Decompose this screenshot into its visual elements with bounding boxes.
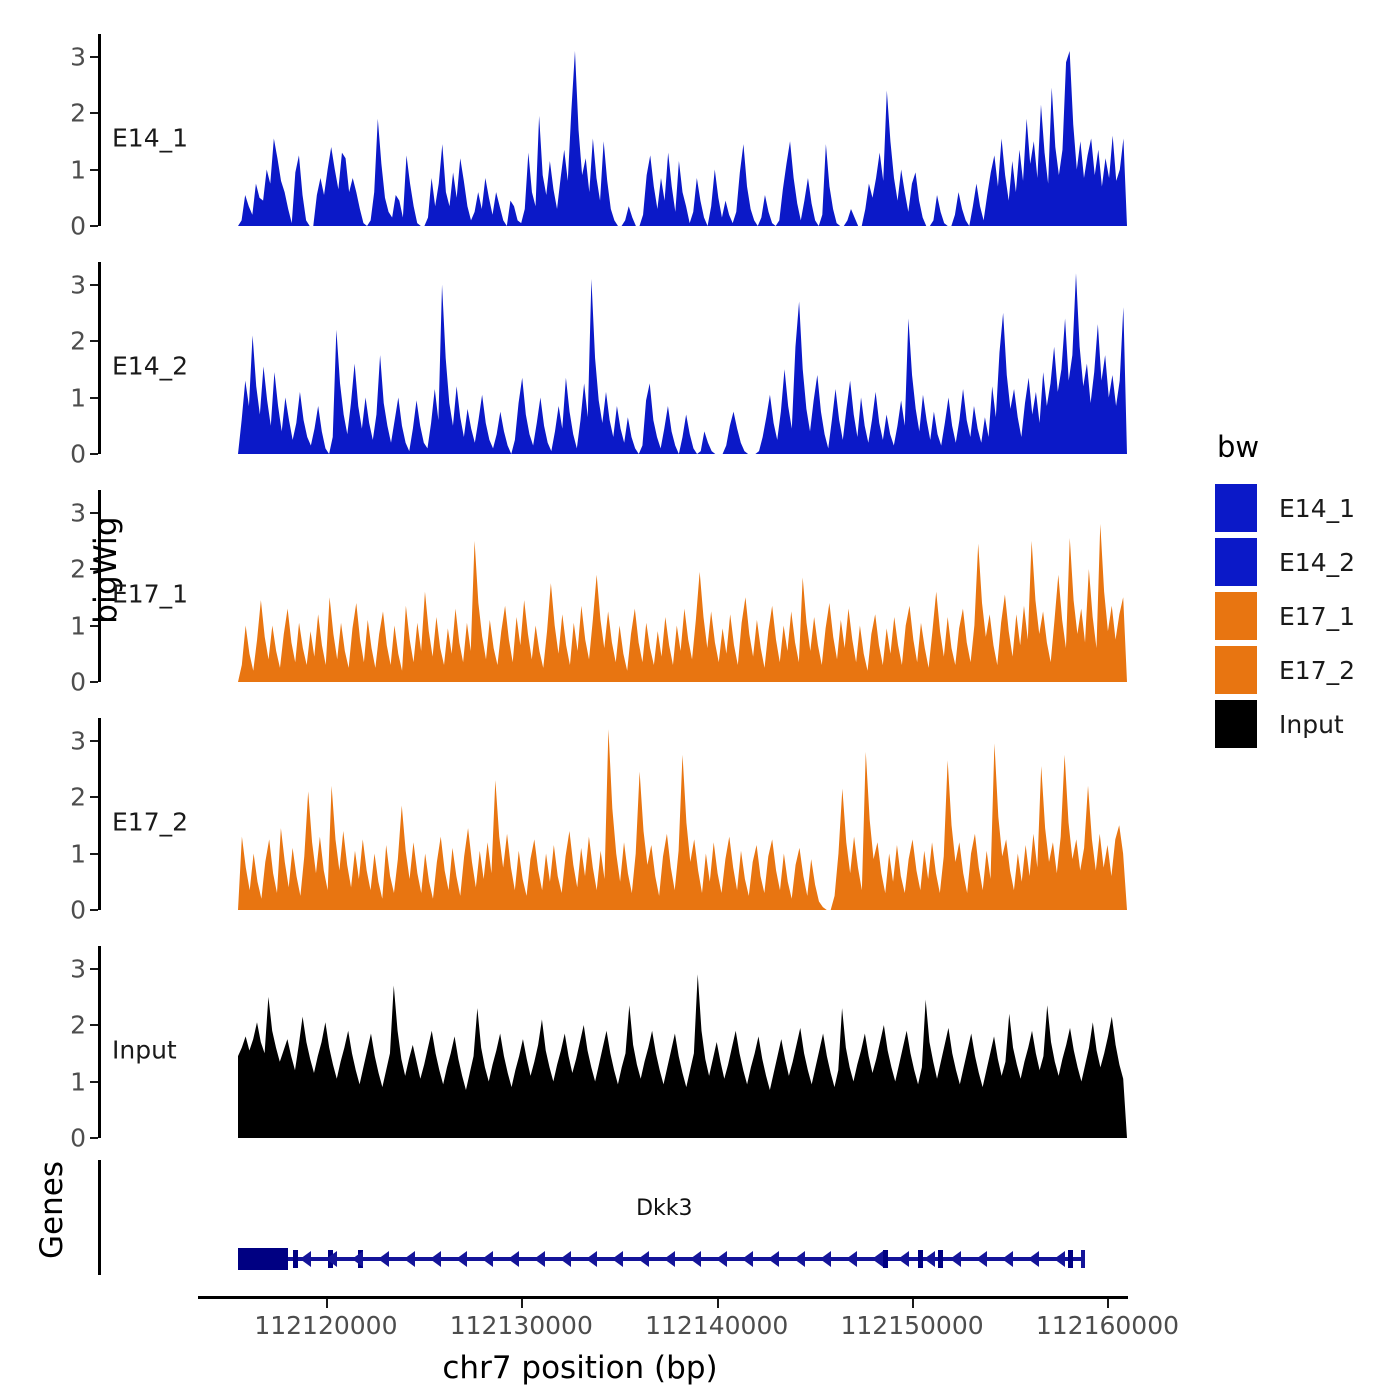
x-tick [521,1299,523,1308]
y-tick [90,340,98,342]
y-axis-spine [98,262,101,454]
x-axis-line [198,1296,1128,1299]
y-tick-label: 0 [70,214,86,239]
y-tick-label: 1 [70,841,86,866]
legend-label: E17_2 [1279,656,1355,685]
track-panel-e17_2: 0123E17_2 [98,718,1127,910]
track-panel-input: 0123Input [98,946,1127,1138]
coverage-area-e14_1[interactable] [238,34,1127,226]
y-tick [90,796,98,798]
y-tick-label: 3 [70,272,86,297]
legend-label: Input [1279,710,1344,739]
x-axis-title: chr7 position (bp) [0,1350,1160,1386]
coverage-area-input[interactable] [238,946,1127,1138]
y-tick-label: 3 [70,500,86,525]
genome-browser-figure: bigWig Genes 0123E14_10123E14_20123E17_1… [0,0,1400,1400]
y-tick-label: 0 [70,898,86,923]
y-tick [90,681,98,683]
y-tick [90,740,98,742]
y-tick-label: 3 [70,956,86,981]
track-panel-e14_1: 0123E14_1 [98,34,1127,226]
y-axis-spine [98,946,101,1138]
legend-swatch-icon [1215,592,1257,640]
gene-label: Dkk3 [636,1196,692,1221]
y-tick [90,1137,98,1139]
track-label-input: Input [112,1036,177,1065]
track-panel-e14_2: 0123E14_2 [98,262,1127,454]
y-tick-label: 2 [70,557,86,582]
legend-title: bw [1217,430,1355,464]
x-tick-label: 112140000 [645,1311,788,1340]
legend-label: E17_1 [1279,602,1355,631]
y-tick [90,1024,98,1026]
legend-item-e17_1[interactable]: E17_1 [1215,590,1355,642]
x-tick [912,1299,914,1308]
x-tick-label: 112150000 [840,1311,983,1340]
y-tick [90,169,98,171]
track-panel-e17_1: 0123E17_1 [98,490,1127,682]
track-label-e17_2: E17_2 [112,808,188,837]
y-tick [90,568,98,570]
y-tick [90,853,98,855]
y-tick-label: 1 [70,613,86,638]
legend: bw E14_1E14_2E17_1E17_2Input [1215,430,1355,752]
legend-label: E14_2 [1279,548,1355,577]
y-tick-label: 2 [70,785,86,810]
legend-item-e17_2[interactable]: E17_2 [1215,644,1355,696]
y-tick [90,397,98,399]
track-label-e17_1: E17_1 [112,580,188,609]
y-tick-label: 0 [70,442,86,467]
y-tick-label: 0 [70,670,86,695]
y-tick [90,56,98,58]
x-tick [326,1299,328,1308]
y-tick [90,909,98,911]
y-tick [90,968,98,970]
legend-swatch-icon [1215,700,1257,748]
x-tick-label: 112120000 [254,1311,397,1340]
y-axis-spine [98,34,101,226]
legend-label: E14_1 [1279,494,1355,523]
coverage-area-e14_2[interactable] [238,262,1127,454]
y-tick [90,625,98,627]
y-tick-label: 1 [70,385,86,410]
legend-swatch-icon [1215,646,1257,694]
y-tick [90,1081,98,1083]
legend-item-e14_2[interactable]: E14_2 [1215,536,1355,588]
y-tick [90,284,98,286]
legend-swatch-icon [1215,538,1257,586]
legend-item-input[interactable]: Input [1215,698,1355,750]
y-tick-label: 1 [70,157,86,182]
genes-axis-title: Genes [0,1110,122,1310]
x-tick-label: 112130000 [450,1311,593,1340]
y-tick [90,453,98,455]
coverage-area-e17_1[interactable] [238,490,1127,682]
track-label-e14_1: E14_1 [112,124,188,153]
coverage-area-e17_2[interactable] [238,718,1127,910]
legend-item-e14_1[interactable]: E14_1 [1215,482,1355,534]
y-tick-label: 3 [70,44,86,69]
y-axis-spine [98,490,101,682]
y-tick-label: 2 [70,101,86,126]
y-tick-label: 2 [70,329,86,354]
y-tick-label: 1 [70,1069,86,1094]
y-tick [90,225,98,227]
y-tick-label: 0 [70,1126,86,1151]
y-tick-label: 2 [70,1013,86,1038]
track-label-e14_2: E14_2 [112,352,188,381]
x-tick-label: 112160000 [1036,1311,1179,1340]
genes-axis-spine [98,1160,101,1275]
y-axis-spine [98,718,101,910]
x-tick [717,1299,719,1308]
gene-model-dkk3[interactable] [238,1242,1085,1276]
y-tick-label: 3 [70,728,86,753]
y-tick [90,512,98,514]
legend-items: E14_1E14_2E17_1E17_2Input [1215,482,1355,750]
y-tick [90,112,98,114]
legend-swatch-icon [1215,484,1257,532]
x-tick [1107,1299,1109,1308]
